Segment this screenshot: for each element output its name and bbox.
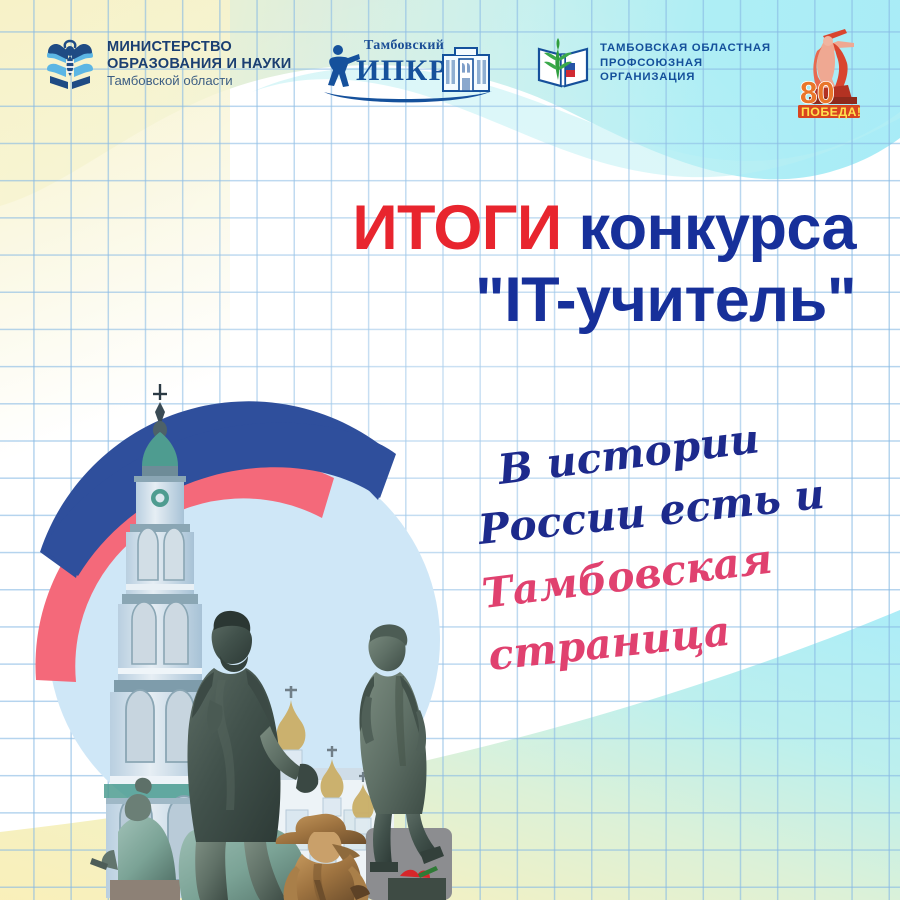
quote-line-4: страница: [486, 607, 732, 680]
headline-line-1: ИТОГИ конкурса: [0, 196, 856, 260]
ipkro-line-1: Тамбовский: [364, 38, 444, 54]
profsoyuz-text: ТАМБОВСКАЯ ОБЛАСТНАЯ ПРОФСОЮЗНАЯ ОРГАНИЗ…: [600, 41, 771, 85]
ipkro-swoosh-icon: [322, 90, 494, 106]
ministry-text: МИНИСТЕРСТВО ОБРАЗОВАНИЯ И НАУКИ Тамбовс…: [107, 39, 291, 88]
institute-building-icon: [442, 46, 490, 92]
logo-pobeda-80[interactable]: 80 ПОБЕДА!: [792, 27, 864, 119]
profsoyuz-line-1: ТАМБОВСКАЯ ОБЛАСТНАЯ: [600, 41, 771, 56]
tambov-monuments-collage: [14, 380, 484, 900]
profsoyuz-line-2: ПРОФСОЮЗНАЯ: [600, 56, 771, 71]
bee-book-emblem-icon: [44, 36, 96, 92]
pobeda-word: ПОБЕДА!: [801, 105, 861, 119]
logo-ipkro[interactable]: Тамбовский ИПКРО: [318, 34, 493, 106]
book-sprout-emblem-icon: [536, 36, 590, 90]
header-logo-row: МИНИСТЕРСТВО ОБРАЗОВАНИЯ И НАУКИ Тамбовс…: [0, 30, 900, 110]
handwritten-quote: В истории России есть и Тамбовская стран…: [474, 432, 886, 690]
headline-line-2: "IT-учитель": [0, 268, 856, 332]
headline-itogi: ИТОГИ: [352, 193, 561, 263]
ministry-line-1: МИНИСТЕРСТВО: [107, 39, 291, 55]
logo-profsoyuz[interactable]: ТАМБОВСКАЯ ОБЛАСТНАЯ ПРОФСОЮЗНАЯ ОРГАНИЗ…: [536, 36, 771, 90]
poster-canvas: МИНИСТЕРСТВО ОБРАЗОВАНИЯ И НАУКИ Тамбовс…: [0, 0, 900, 900]
collage-svg: [14, 380, 484, 900]
page-title: ИТОГИ конкурса "IT-учитель": [0, 196, 900, 333]
motherland-calls-statue-icon: 80 ПОБЕДА!: [792, 27, 864, 119]
ministry-line-2: ОБРАЗОВАНИЯ И НАУКИ: [107, 56, 291, 72]
ministry-line-3: Тамбовской области: [107, 74, 291, 89]
handwritten-quote-svg: В истории России есть и Тамбовская стран…: [474, 432, 886, 690]
profsoyuz-line-3: ОРГАНИЗАЦИЯ: [600, 70, 771, 85]
logo-ministry-education[interactable]: МИНИСТЕРСТВО ОБРАЗОВАНИЯ И НАУКИ Тамбовс…: [44, 36, 291, 92]
headline-konkursa: конкурса: [578, 193, 856, 263]
